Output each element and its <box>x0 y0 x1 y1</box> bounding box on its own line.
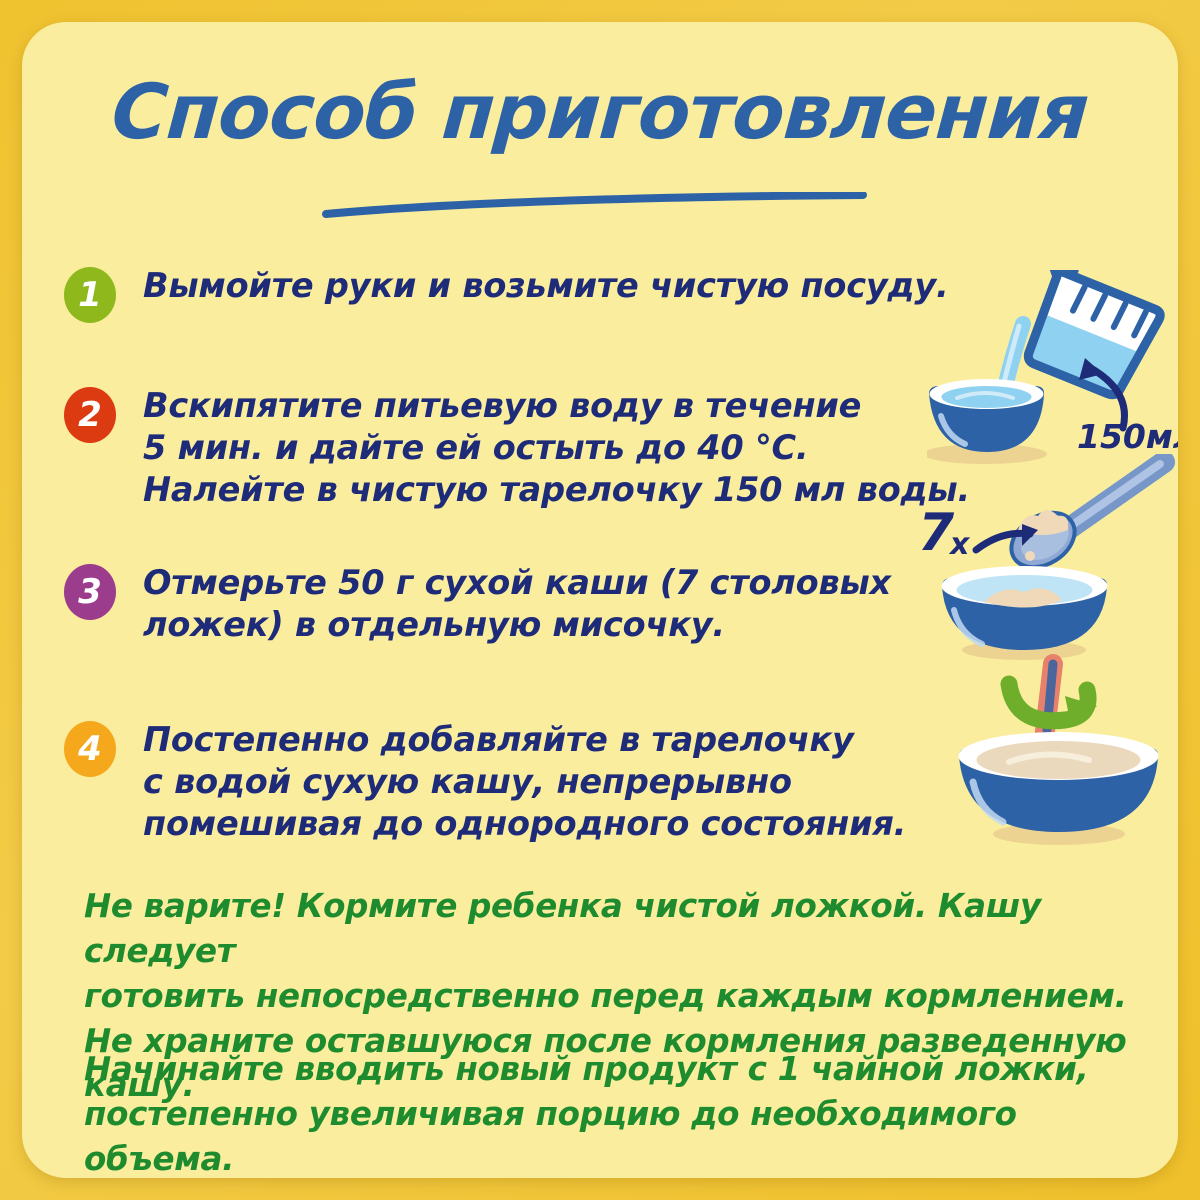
stirring-illustration <box>947 652 1177 852</box>
step-badge-1: 1 <box>64 267 116 323</box>
step-badge-3: 3 <box>64 564 116 620</box>
pouring-water-illustration: 150мл <box>927 270 1178 470</box>
note-paragraph-2: Начинайте вводить новый продукт с 1 чайн… <box>84 1047 1144 1178</box>
step-item-4: 4 Постепенно добавляйте в тарелочку с во… <box>64 719 906 846</box>
recipe-poster: Способ приготовления 1 Вымойте руки и во… <box>0 0 1200 1200</box>
step-badge-2: 2 <box>64 387 116 443</box>
step-text-1: Вымойте руки и возьмите чистую посуду. <box>143 265 949 307</box>
title-block: Способ приготовления <box>22 74 1178 150</box>
step-text-2: Вскипятите питьевую воду в течение 5 мин… <box>143 385 970 512</box>
page-title: Способ приготовления <box>22 74 1178 150</box>
spoon-count-multiplier: x <box>948 527 971 562</box>
step-item-1: 1 Вымойте руки и возьмите чистую посуду. <box>64 265 949 323</box>
measure-label-150ml: 150мл <box>1077 417 1178 456</box>
recipe-card: Способ приготовления 1 Вымойте руки и во… <box>22 22 1178 1178</box>
step-text-3: Отмерьте 50 г сухой каши (7 столовых лож… <box>143 562 891 646</box>
step-item-3: 3 Отмерьте 50 г сухой каши (7 столовых л… <box>64 562 891 646</box>
title-underline-icon <box>322 192 867 218</box>
step-text-4: Постепенно добавляйте в тарелочку с водо… <box>143 719 906 846</box>
spoon-measuring-illustration: 7 x <box>912 454 1178 666</box>
step-item-2: 2 Вскипятите питьевую воду в течение 5 м… <box>64 385 970 512</box>
step-badge-4: 4 <box>64 721 116 777</box>
